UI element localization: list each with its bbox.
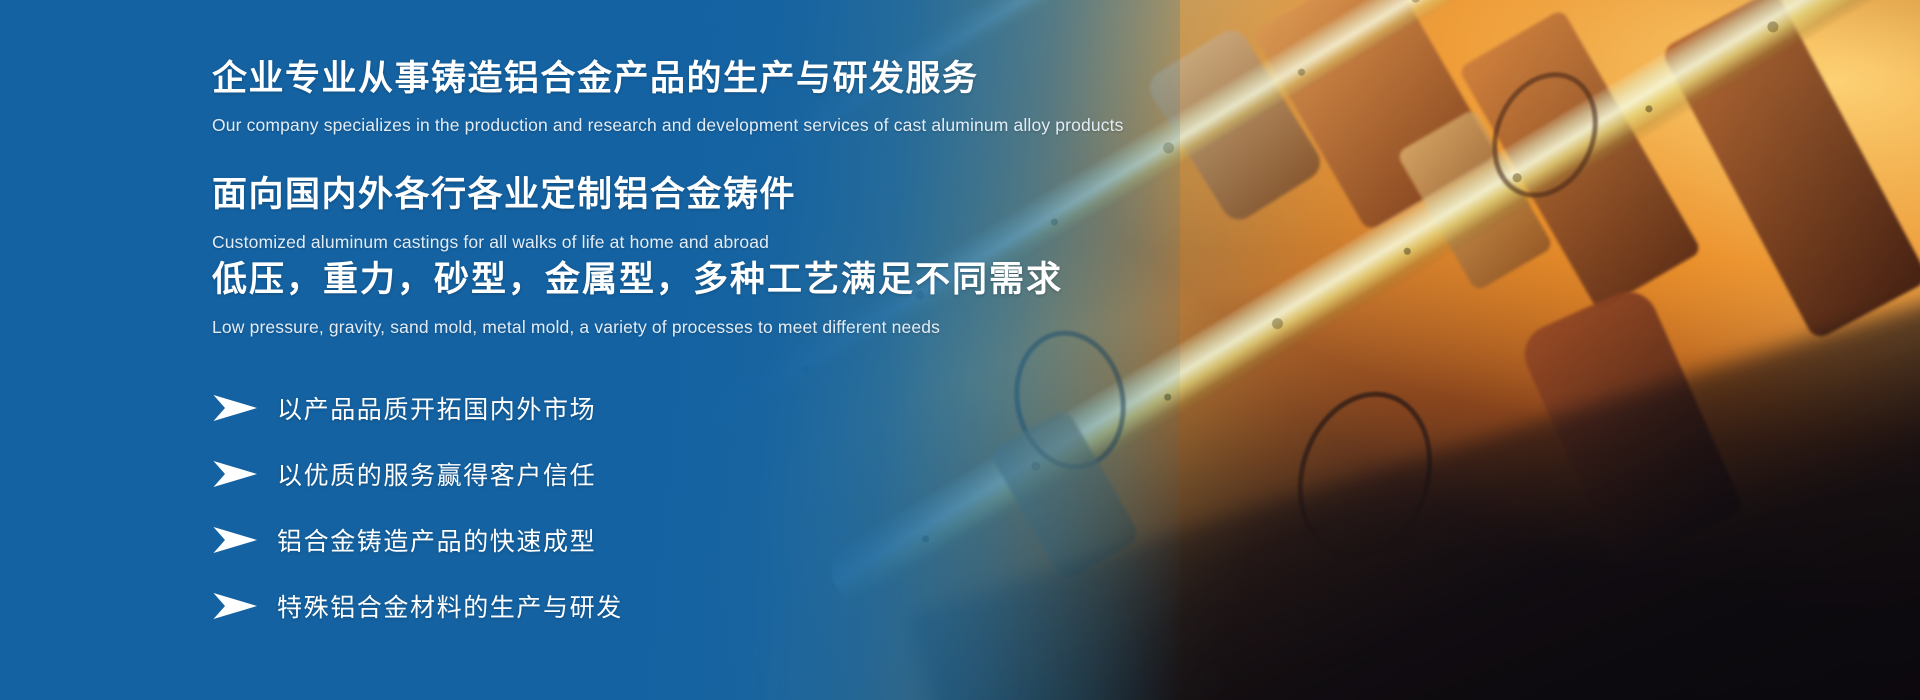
list-item-label: 以优质的服务赢得客户信任 <box>277 456 596 492</box>
arrow-right-icon <box>212 592 258 620</box>
banner-content: 企业专业从事铸造铝合金产品的生产与研发服务 Our company specia… <box>212 0 1412 700</box>
headline-1-en: Our company specializes in the productio… <box>212 115 1124 136</box>
arrow-right-icon <box>212 526 258 554</box>
list-item: 特殊铝合金材料的生产与研发 <box>212 583 623 628</box>
headline-3-cn: 低压，重力，砂型，金属型，多种工艺满足不同需求 <box>212 258 1063 302</box>
headline-block-1: 企业专业从事铸造铝合金产品的生产与研发服务 Our company specia… <box>212 57 1124 136</box>
headline-block-2: 面向国内外各行各业定制铝合金铸件 Customized aluminum cas… <box>212 173 796 253</box>
arrow-right-icon <box>212 460 258 488</box>
hero-banner: 企业专业从事铸造铝合金产品的生产与研发服务 Our company specia… <box>0 0 1920 700</box>
feature-bullet-list: 以产品品质开拓国内外市场 以优质的服务赢得客户信任 铝合金铸造产品的快速成型 特… <box>212 385 623 628</box>
list-item-label: 铝合金铸造产品的快速成型 <box>277 522 596 558</box>
headline-2-cn: 面向国内外各行各业定制铝合金铸件 <box>212 173 796 217</box>
list-item: 以优质的服务赢得客户信任 <box>212 451 623 496</box>
arrow-right-icon <box>212 394 258 422</box>
headline-1-cn: 企业专业从事铸造铝合金产品的生产与研发服务 <box>212 57 1124 101</box>
list-item-label: 以产品品质开拓国内外市场 <box>277 390 596 426</box>
list-item: 铝合金铸造产品的快速成型 <box>212 517 623 562</box>
list-item-label: 特殊铝合金材料的生产与研发 <box>277 588 623 624</box>
headline-3-en: Low pressure, gravity, sand mold, metal … <box>212 317 1063 338</box>
headline-block-3: 低压，重力，砂型，金属型，多种工艺满足不同需求 Low pressure, gr… <box>212 258 1063 338</box>
headline-2-en: Customized aluminum castings for all wal… <box>212 232 796 253</box>
list-item: 以产品品质开拓国内外市场 <box>212 385 623 430</box>
